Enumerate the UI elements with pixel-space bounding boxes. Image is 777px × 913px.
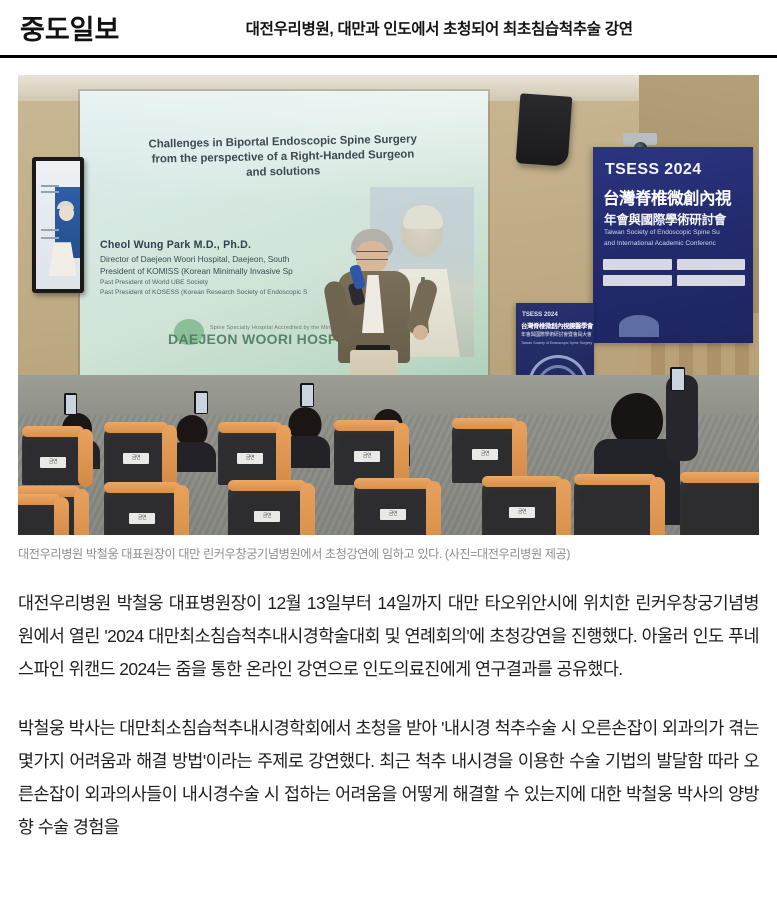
side-monitor-text-lines [41,185,59,187]
banner-decoration [619,315,659,337]
standing-banner-line1: TSESS 2024 [522,311,558,318]
sponsor-logo [603,275,672,286]
side-monitor-person-head [59,205,74,221]
seat-plate: 금연 [254,511,280,522]
sponsor-logo [677,259,746,270]
phone-screen [196,393,207,413]
seat-trim [74,489,89,535]
wall-speaker-icon [516,93,573,166]
seat-trim [174,485,189,535]
photo-caption: 대전우리병원 박철웅 대표원장이 대만 린커우창궁기념병원에서 초청강연에 임하… [18,546,759,563]
seat-trim-top [354,478,432,489]
seat-trim-top [22,426,84,437]
auditorium-seat: 금연 [104,487,180,535]
slide-title: Challenges in Biportal Endoscopic Spine … [98,131,469,183]
seat-trim [556,479,571,535]
seat-plate: 금연 [129,513,155,524]
side-monitor-screen [36,161,80,289]
article-headline: 대전우리병원, 대만과 인도에서 초청되어 최초침습척추술 강연 [119,17,763,39]
tsess-banner-line4: Taiwan Society of Endoscopic Spine Su [604,229,720,236]
phone-screen [302,385,313,406]
sponsor-row [603,275,745,286]
seat-plate: 금연 [40,457,66,468]
seat-trim-top [574,474,656,485]
seat-trim-top [218,422,282,433]
auditorium-seat: 금연 [334,425,400,485]
masthead: 중도일보 대전우리병원, 대만과 인도에서 초청되어 최초침습척추술 강연 [0,0,777,55]
auditorium-seat: 금연 [104,427,168,485]
smartphone-icon [300,383,314,407]
newspaper-logo[interactable]: 중도일보 [20,8,119,47]
seat-trim [276,425,291,487]
seat-trim-top [482,476,562,487]
tsess-banner-line5: and International Academic Conferenc [604,240,716,247]
auditorium-seat: 금연 [452,423,518,483]
sponsor-logo [603,259,672,270]
sponsor-row [603,259,745,270]
standing-banner-line4: Taiwan Society of Endoscopic Spine Surge… [521,341,592,345]
sponsor-logos [603,259,745,286]
seat-plate: 금연 [380,509,406,520]
seat-plate: 금연 [123,453,149,464]
standing-banner-line2: 台灣脊椎微創內視鏡醫學會 [521,321,593,330]
tsess-banner-line3: 年會與國際學術研討會 [604,209,726,228]
tsess-banner-line2: 台灣脊椎微創內視 [603,185,731,209]
auditorium-seat: 금연 [354,483,432,535]
auditorium-seat: 금연 [228,485,306,535]
seat-plate: 금연 [509,507,535,518]
seat-plate: 금연 [354,451,380,462]
presenter-right-hand [413,325,428,340]
auditorium-seat: 금연 [22,431,84,485]
auditorium-seat [18,499,60,535]
portrait-hair [403,205,443,229]
auditorium-seat [574,479,656,535]
auditorium-seat: 금연 [218,427,282,485]
seat-trim [162,425,177,487]
article-paragraph: 대전우리병원 박철웅 대표병원장이 12월 13일부터 14일까지 대만 타오위… [18,587,759,686]
sponsor-logo [677,275,746,286]
article-photo: Challenges in Biportal Endoscopic Spine … [18,75,759,535]
tsess-banner: TSESS 2024 台灣脊椎微創內視 年會與國際學術研討會 Taiwan So… [593,147,753,343]
seat-trim [78,429,93,487]
auditorium-seat: 금연 [482,481,562,535]
seat-trim-top [228,480,306,491]
header-divider [0,55,777,58]
phone-screen [66,395,76,414]
smartphone-icon [670,367,685,391]
seat-plate: 금연 [237,453,263,464]
seat-trim [300,483,315,535]
seat-trim [54,497,69,535]
seat-trim-top [334,420,400,431]
seat-trim-top [104,482,180,493]
smartphone-icon [194,391,208,414]
seat-trim [650,477,665,535]
article-paragraph: 박철웅 박사는 대만최소침습척추내시경학회에서 초청을 받아 '내시경 척추수술… [18,712,759,844]
tsess-banner-line1: TSESS 2024 [605,161,702,179]
seat-trim-top [680,472,759,483]
standing-banner-line3: 年會與國際學術研討會暨會員大會 [521,331,592,338]
wall-camera-icon [623,133,657,145]
seat-plate: 금연 [472,449,498,460]
side-monitor [32,157,84,293]
article-container: Challenges in Biportal Endoscopic Spine … [0,75,777,844]
glasses-icon [356,251,388,260]
seat-trim-top [104,422,168,433]
phone-screen [672,369,684,390]
photo-scene: Challenges in Biportal Endoscopic Spine … [18,75,759,535]
auditorium-seat [680,477,759,535]
seat-trim [426,481,441,535]
article-body: 대전우리병원 박철웅 대표병원장이 12월 13일부터 14일까지 대만 타오위… [18,587,759,844]
smartphone-icon [64,393,77,415]
seat-trim-top [452,418,518,429]
